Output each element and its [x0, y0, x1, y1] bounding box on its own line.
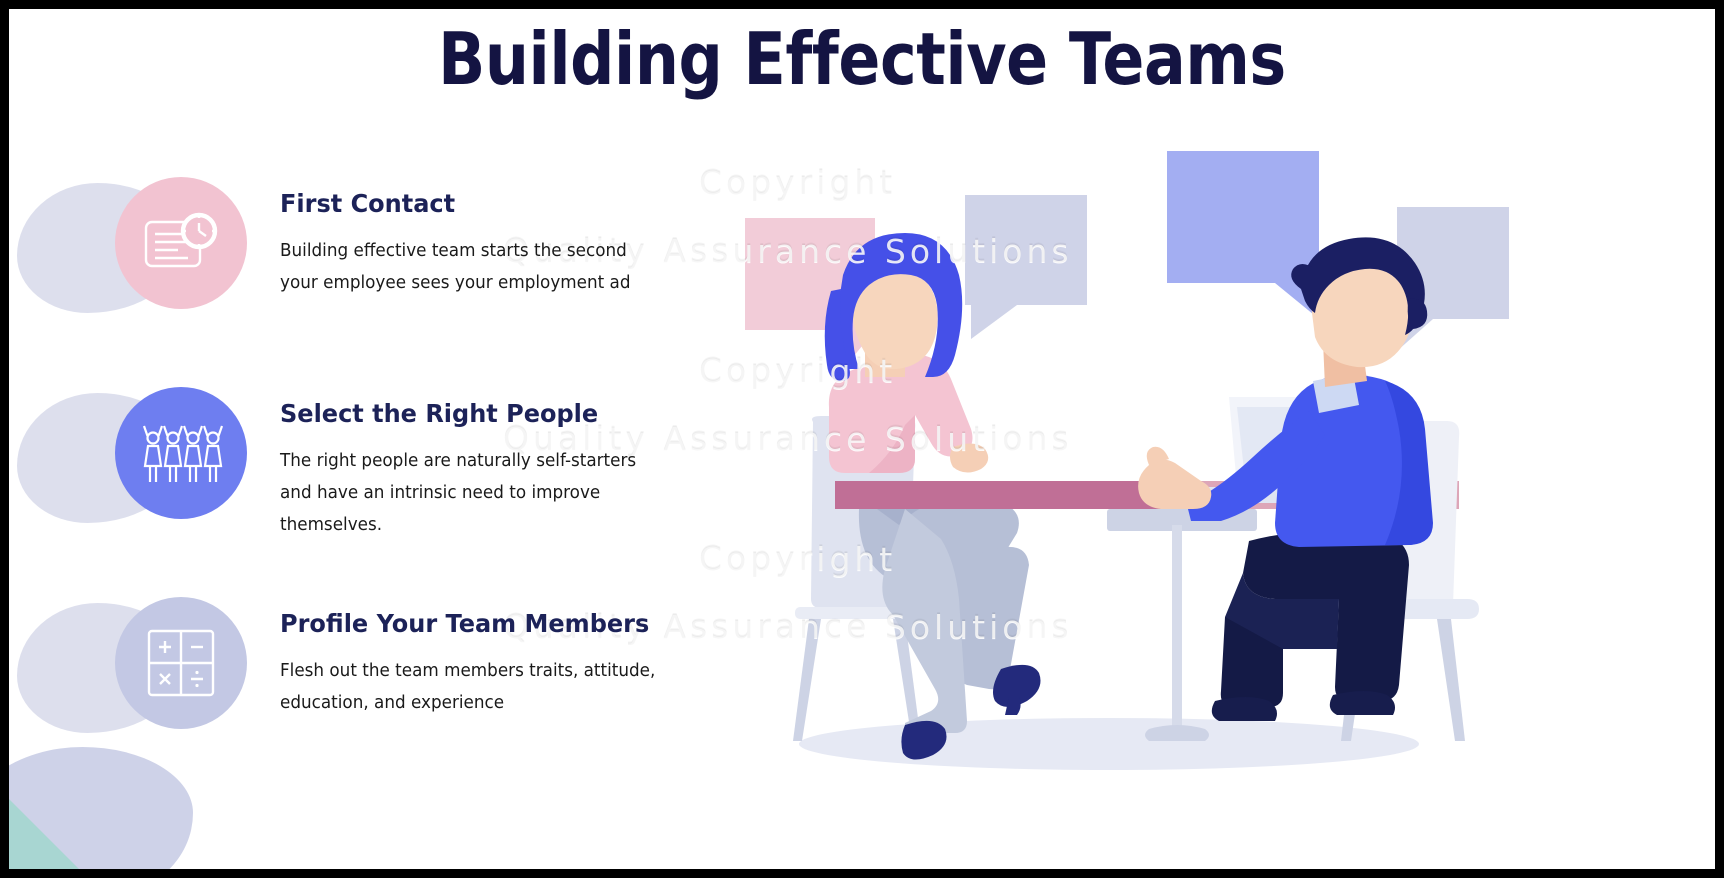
feature-body-line: themselves.: [280, 509, 674, 541]
feature-body-line: education, and experience: [280, 687, 674, 719]
feature-body-line: Building effective team starts the secon…: [280, 235, 674, 267]
feature-body-line: Flesh out the team members traits, attit…: [280, 655, 674, 687]
feature-heading: Select the Right People: [280, 399, 674, 429]
slide-canvas: Building Effective Teams: [9, 9, 1715, 869]
calculator-icon: [115, 597, 247, 729]
slide-frame: Building Effective Teams: [0, 0, 1724, 878]
people-raising-hands-icon: [115, 387, 247, 519]
floor-shadow: [799, 718, 1419, 770]
feature-text: Profile Your Team Members Flesh out the …: [280, 609, 690, 719]
feature-heading: First Contact: [280, 189, 674, 219]
speech-bubble-grey-small: [965, 195, 1087, 339]
teal-corner-accent: [9, 795, 83, 869]
feature-body-line: The right people are naturally self-star…: [280, 445, 674, 477]
feature-item-select-right-people: Select the Right People The right people…: [9, 387, 709, 597]
speech-bubble-blue-large: [1167, 151, 1319, 319]
feature-body-line: and have an intrinsic need to improve: [280, 477, 674, 509]
feature-item-first-contact: First Contact Building effective team st…: [9, 177, 709, 387]
man-figure: [1138, 237, 1433, 721]
two-people-meeting-at-table-illustration: [709, 129, 1509, 774]
page-title: Building Effective Teams: [128, 15, 1595, 103]
feature-text: First Contact Building effective team st…: [280, 189, 690, 299]
feature-text: Select the Right People The right people…: [280, 399, 690, 541]
feature-heading: Profile Your Team Members: [280, 609, 674, 639]
feature-body-line: your employee sees your employment ad: [280, 267, 674, 299]
feature-list: First Contact Building effective team st…: [9, 177, 709, 807]
document-clock-icon: [115, 177, 247, 309]
